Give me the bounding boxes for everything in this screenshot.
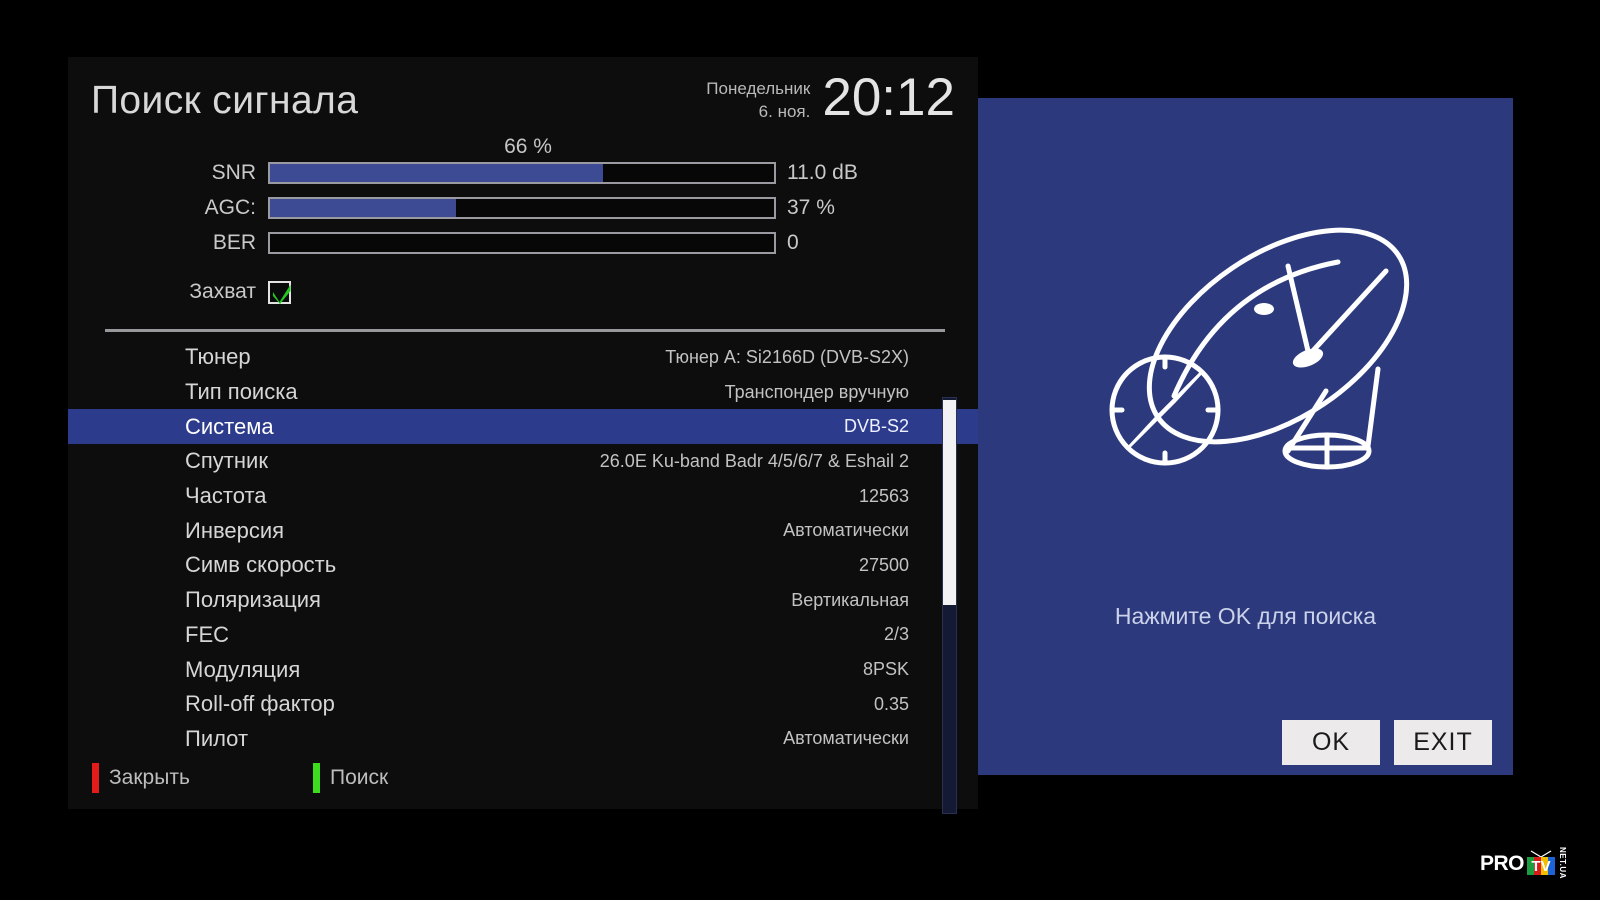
meter-value-snr: 11.0 dB (776, 161, 858, 185)
settings-row-value: Автоматически (284, 520, 977, 541)
capture-row: Захват (68, 280, 978, 304)
settings-row-value: Тюнер A: Si2166D (DVB-S2X) (251, 347, 977, 368)
signal-percent-label: 66 % (273, 135, 783, 159)
settings-row-key: Поляризация (69, 587, 321, 613)
meter-label-ber: BER (68, 231, 268, 255)
settings-row-key: Тюнер (69, 344, 251, 370)
settings-row-value: Транспондер вручную (298, 382, 977, 403)
clock-day-month: 6. ноя. (706, 100, 810, 123)
settings-row[interactable]: СистемаDVB-S2 (68, 409, 978, 444)
settings-list[interactable]: ТюнерТюнер A: Si2166D (DVB-S2X)Тип поиск… (68, 340, 978, 760)
settings-row-value: 12563 (267, 486, 977, 507)
meter-track-agc (268, 197, 776, 219)
settings-row-value: 27500 (336, 555, 977, 576)
close-button[interactable]: Закрыть (92, 761, 190, 795)
clock-block: Понедельник 6. ноя. 20:12 (706, 71, 955, 124)
settings-row-value: 26.0E Ku-band Badr 4/5/6/7 & Eshail 2 (268, 451, 977, 472)
settings-row-value: Вертикальная (321, 590, 977, 611)
press-ok-hint: Нажмите OK для поиска (978, 603, 1513, 630)
settings-row-key: Симв скорость (69, 552, 336, 578)
meter-row-agc: AGC: 37 % (68, 196, 978, 220)
watermark-pro-text: PRO (1480, 853, 1526, 874)
settings-row[interactable]: Модуляция8PSK (68, 652, 978, 687)
ok-button[interactable]: OK (1282, 720, 1380, 765)
settings-row-value: 8PSK (300, 659, 977, 680)
close-button-label: Закрыть (109, 766, 190, 790)
watermark-net-text: NET.UA (1558, 847, 1566, 879)
search-button-label: Поиск (330, 766, 388, 790)
dish-info-panel: Нажмите OK для поиска OK EXIT (978, 98, 1513, 775)
meter-track-ber (268, 232, 776, 254)
meter-value-ber: 0 (776, 231, 799, 255)
settings-row-key: FEC (69, 622, 229, 648)
settings-row[interactable]: Roll-off фактор0.35 (68, 687, 978, 722)
settings-row[interactable]: ИнверсияАвтоматически (68, 513, 978, 548)
meter-label-snr: SNR (68, 161, 268, 185)
settings-row[interactable]: Частота12563 (68, 479, 978, 514)
settings-row-key: Частота (69, 483, 267, 509)
settings-row-key: Модуляция (69, 657, 300, 683)
page-title: Поиск сигнала (91, 79, 358, 123)
exit-button[interactable]: EXIT (1394, 720, 1492, 765)
settings-row-value: Автоматически (248, 728, 977, 749)
meter-row-snr: SNR 11.0 dB (68, 161, 978, 185)
settings-row[interactable]: Спутник26.0E Ku-band Badr 4/5/6/7 & Esha… (68, 444, 978, 479)
meter-track-snr (268, 162, 776, 184)
scrollbar-thumb[interactable] (943, 400, 956, 605)
red-key-swatch (92, 763, 99, 793)
settings-row-key: Roll-off фактор (69, 691, 335, 717)
satellite-dish-illustration (978, 116, 1513, 556)
watermark-logo: PRO TV NET.UA (1477, 846, 1569, 880)
settings-row-value: 2/3 (229, 624, 977, 645)
settings-row-value: DVB-S2 (274, 416, 977, 437)
panel-action-buttons: OK EXIT (1282, 720, 1492, 765)
settings-row-key: Спутник (69, 448, 268, 474)
settings-row[interactable]: ТюнерТюнер A: Si2166D (DVB-S2X) (68, 340, 978, 375)
meter-row-ber: BER 0 (68, 231, 978, 255)
clock-time: 20:12 (822, 71, 955, 124)
clock-weekday: Понедельник (706, 77, 810, 100)
svg-text:TV: TV (1531, 858, 1550, 875)
settings-row-key: Система (69, 414, 274, 440)
checkmark-icon (269, 282, 294, 307)
clock-date: Понедельник 6. ноя. (706, 71, 822, 123)
settings-row-value: 0.35 (335, 694, 977, 715)
settings-row-key: Пилот (69, 726, 248, 752)
signal-search-panel: Поиск сигнала Понедельник 6. ноя. 20:12 … (68, 57, 978, 809)
capture-label: Захват (68, 280, 268, 304)
green-key-swatch (313, 763, 320, 793)
settings-row[interactable]: FEC2/3 (68, 618, 978, 653)
meter-label-agc: AGC: (68, 196, 268, 220)
settings-row[interactable]: Тип поискаТранспондер вручную (68, 375, 978, 410)
footer-actions: Закрыть Поиск (68, 761, 978, 795)
settings-row[interactable]: ПилотАвтоматически (68, 722, 978, 757)
tv-set-icon: TV (1526, 850, 1556, 876)
meter-value-agc: 37 % (776, 196, 835, 220)
tv-receiver-screen: Поиск сигнала Понедельник 6. ноя. 20:12 … (0, 0, 1600, 900)
meter-fill-agc (270, 199, 456, 217)
settings-row-key: Инверсия (69, 518, 284, 544)
settings-row[interactable]: Симв скорость27500 (68, 548, 978, 583)
capture-checkbox[interactable] (268, 281, 291, 304)
compass-icon (1112, 357, 1218, 463)
settings-row[interactable]: ПоляризацияВертикальная (68, 583, 978, 618)
section-divider (105, 329, 945, 332)
settings-row-key: Тип поиска (69, 379, 298, 405)
meter-fill-snr (270, 164, 603, 182)
watermark-tv-icon: TV (1526, 850, 1556, 876)
search-button[interactable]: Поиск (313, 761, 388, 795)
list-scrollbar[interactable] (942, 397, 957, 814)
satellite-dish-icon (1112, 187, 1444, 485)
